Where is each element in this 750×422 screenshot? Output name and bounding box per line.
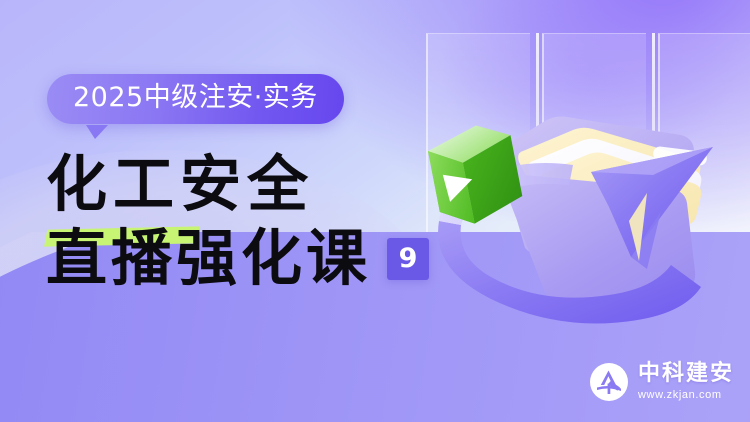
- brand-logo-text: 中科建安 www.zkjan.com: [638, 363, 734, 401]
- brand-name: 中科建安: [638, 363, 734, 385]
- headline-line-2-text: 直播强化课: [46, 222, 371, 296]
- badge-pointer-tail: [86, 125, 108, 139]
- headline-block: 化工安全 直播强化课 9: [46, 148, 429, 296]
- course-category-badge: 2025中级注安·实务: [47, 74, 344, 124]
- play-cube-icon: [425, 119, 526, 229]
- brand-website: www.zkjan.com: [638, 390, 734, 401]
- headline-line-1: 化工安全: [46, 148, 429, 222]
- brand-logo: 中科建安 www.zkjan.com: [589, 362, 734, 402]
- episode-number-badge: 9: [387, 238, 429, 280]
- headline-line-1-text: 化工安全: [46, 149, 314, 220]
- zhongke-jianan-logo-icon: [589, 362, 629, 402]
- course-promo-banner: 2025中级注安·实务 化工安全 直播强化课 9 中科建安 www.zkjan.…: [0, 0, 750, 422]
- headline-line-2: 直播强化课 9: [46, 222, 429, 296]
- folder-arrow-illustration: [395, 25, 750, 355]
- course-category-label: 2025中级注安·实务: [73, 83, 318, 113]
